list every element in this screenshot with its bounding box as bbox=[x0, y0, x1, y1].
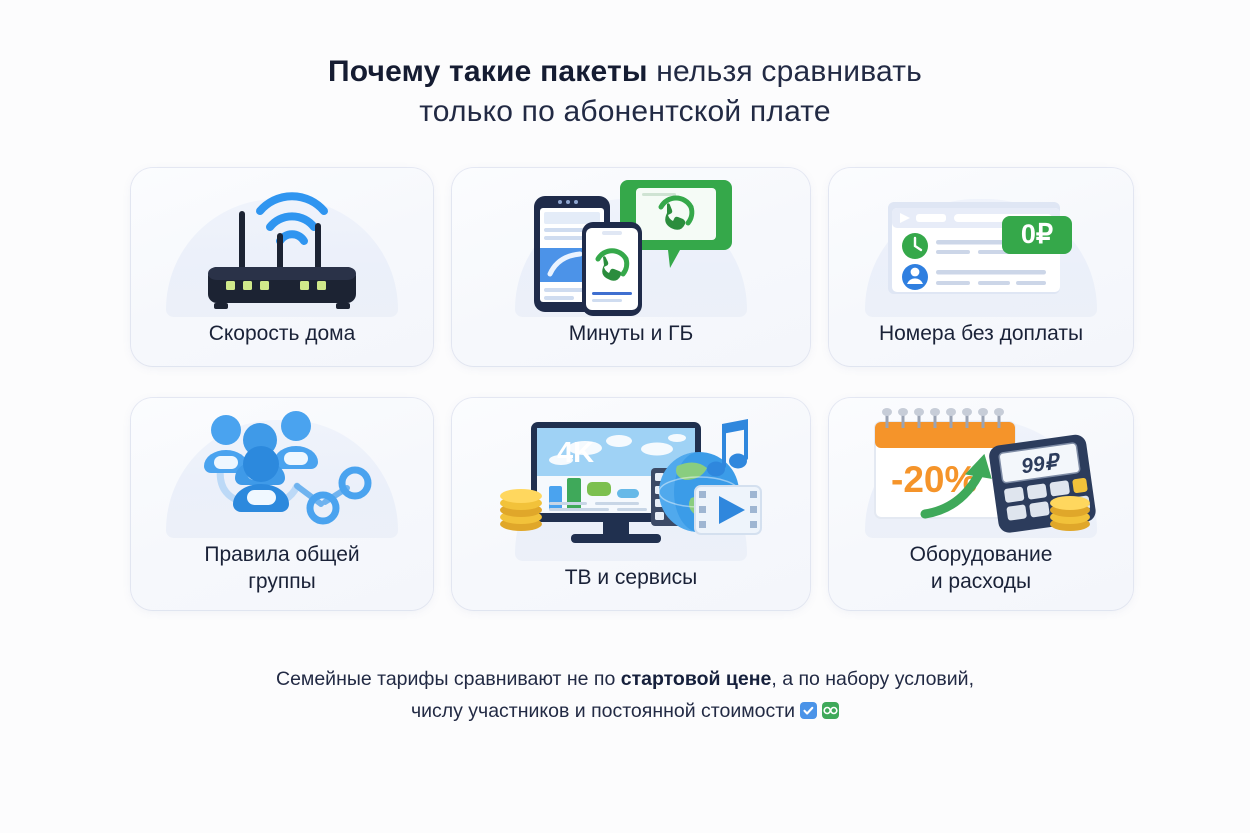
card-label-line-1: Оборудование bbox=[910, 543, 1053, 566]
card-artwork-tv: 4K bbox=[452, 398, 810, 565]
footer-text-a: Семейные тарифы сравнивают не по bbox=[276, 668, 621, 690]
footer-line-2: числу участников и постоянной стоимости bbox=[0, 696, 1250, 728]
zero-price-badge-text: 0₽ bbox=[1020, 219, 1052, 249]
list-window-zero-price-icon: 0₽ bbox=[874, 180, 1089, 310]
tv-globe-media-icon: 4K bbox=[499, 416, 764, 548]
screen-resolution-text: 4K bbox=[557, 437, 594, 469]
router-wifi-icon bbox=[182, 175, 382, 315]
card-artwork-equipment: -20% 99₽ bbox=[829, 398, 1133, 542]
title-strong-part: Почему такие пакеты bbox=[328, 55, 648, 88]
card-label-numbers: Номера без доплаты bbox=[869, 321, 1093, 366]
title-light-part: нельзя сравнивать bbox=[648, 55, 922, 88]
footer-text-b: , а по набору условий, bbox=[771, 668, 974, 690]
card-label-minutes-gb: Минуты и ГБ bbox=[559, 321, 704, 366]
footer-text-strong: стартовой цене bbox=[621, 668, 772, 690]
footer-text-line2: числу участников и постоянной стоимости bbox=[411, 700, 795, 722]
card-label-line-2: группы bbox=[248, 570, 315, 593]
footer-note: Семейные тарифы сравнивают не по стартов… bbox=[0, 664, 1250, 727]
card-label-line-2: и расходы bbox=[931, 570, 1031, 593]
footer-line-1: Семейные тарифы сравнивают не по стартов… bbox=[0, 664, 1250, 696]
phones-call-icon bbox=[516, 174, 746, 316]
card-home-speed[interactable]: Скорость дома bbox=[131, 168, 433, 366]
card-artwork-home-speed bbox=[131, 168, 433, 321]
card-label-equipment-costs: Оборудованиеи расходы bbox=[900, 542, 1063, 610]
card-label-line-1: Правила общей bbox=[204, 543, 359, 566]
coins-stack-icon bbox=[500, 489, 542, 531]
card-artwork-numbers: 0₽ bbox=[829, 168, 1133, 321]
cards-grid: Скорость дома bbox=[131, 168, 1119, 610]
people-group-network-icon bbox=[173, 404, 391, 536]
card-group-rules[interactable]: Правила общейгруппы bbox=[131, 398, 433, 610]
card-equipment-costs[interactable]: -20% 99₽ bbox=[829, 398, 1133, 610]
infographic-page: Почему такие пакеты нельзя сравнивать то… bbox=[0, 0, 1250, 833]
card-artwork-minutes-gb bbox=[452, 168, 810, 321]
coins-stack-icon bbox=[1050, 496, 1090, 531]
title-line-2: только по абонентской плате bbox=[0, 92, 1250, 132]
calendar-calculator-icon: -20% 99₽ bbox=[865, 406, 1097, 534]
card-minutes-gb[interactable]: Минуты и ГБ bbox=[452, 168, 810, 366]
title-line-1: Почему такие пакеты нельзя сравнивать bbox=[0, 52, 1250, 92]
check-badge-icon bbox=[800, 702, 817, 719]
card-label-home-speed: Скорость дома bbox=[199, 321, 366, 366]
card-label-group-rules: Правила общейгруппы bbox=[194, 542, 369, 610]
infinity-badge-icon bbox=[822, 702, 839, 719]
card-artwork-group bbox=[131, 398, 433, 542]
card-tv-services[interactable]: 4K bbox=[452, 398, 810, 610]
page-title: Почему такие пакеты нельзя сравнивать то… bbox=[0, 52, 1250, 131]
card-numbers-no-surcharge[interactable]: 0₽ Номера без доплаты bbox=[829, 168, 1133, 366]
card-label-tv-services: ТВ и сервисы bbox=[555, 565, 708, 610]
